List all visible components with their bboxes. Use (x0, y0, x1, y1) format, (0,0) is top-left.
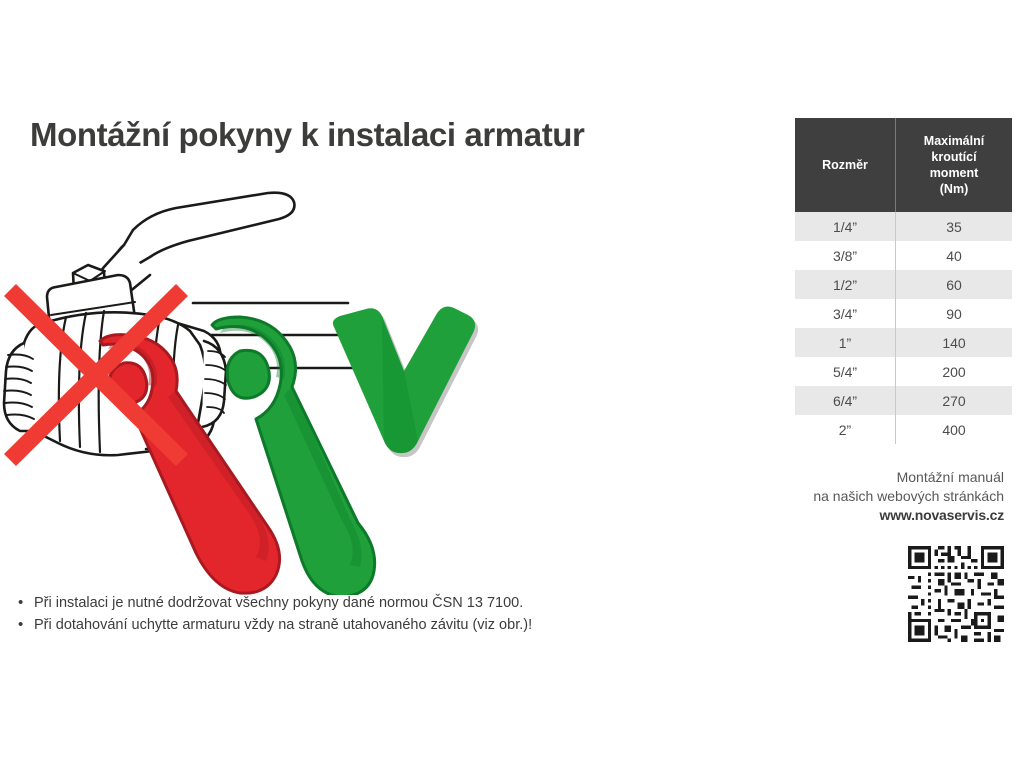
table-row: 1/4” 35 (795, 212, 1012, 241)
cell-torque: 90 (896, 299, 1013, 328)
table-row: 1/2” 60 (795, 270, 1012, 299)
column-header-torque-line1: Maximální (924, 134, 984, 148)
manual-reference-note: Montážní manuál na našich webových strán… (760, 468, 1004, 525)
cell-torque: 40 (896, 241, 1013, 270)
green-check-mark (333, 307, 478, 458)
column-header-torque-line2: kroutící (931, 150, 976, 164)
list-item-text: Při dotahování uchytte armaturu vždy na … (34, 614, 718, 636)
cell-torque: 35 (896, 212, 1013, 241)
cell-size: 6/4” (795, 386, 896, 415)
website-url[interactable]: www.novaservis.cz (760, 506, 1004, 525)
cell-torque: 140 (896, 328, 1013, 357)
cell-size: 1/4” (795, 212, 896, 241)
cell-torque: 400 (896, 415, 1013, 444)
column-header-torque-line3: moment (930, 166, 979, 180)
page-title: Montážní pokyny k instalaci armatur (30, 116, 584, 154)
instruction-bullet-list: • Při instalaci je nutné dodržovat všech… (18, 592, 718, 636)
table-body: 1/4” 35 3/8” 40 1/2” 60 3/4” 90 1” 140 5… (795, 212, 1012, 444)
column-header-torque: Maximální kroutící moment (Nm) (896, 118, 1013, 212)
cell-size: 3/4” (795, 299, 896, 328)
list-item: • Při dotahování uchytte armaturu vždy n… (18, 614, 718, 636)
cell-size: 3/8” (795, 241, 896, 270)
column-header-torque-line4: (Nm) (940, 182, 968, 196)
torque-table: Rozměr Maximální kroutící moment (Nm) 1/… (795, 118, 1012, 444)
cell-torque: 270 (896, 386, 1013, 415)
table-row: 6/4” 270 (795, 386, 1012, 415)
cell-torque: 200 (896, 357, 1013, 386)
column-header-size: Rozměr (795, 118, 896, 212)
table-row: 5/4” 200 (795, 357, 1012, 386)
table-row: 1” 140 (795, 328, 1012, 357)
bullet-marker-icon: • (18, 614, 34, 636)
table-header-row: Rozměr Maximální kroutící moment (Nm) (795, 118, 1012, 212)
list-item-text: Při instalaci je nutné dodržovat všechny… (34, 592, 718, 614)
qr-code[interactable] (908, 538, 1004, 650)
list-item: • Při instalaci je nutné dodržovat všech… (18, 592, 718, 614)
bullet-marker-icon: • (18, 592, 34, 614)
manual-note-line-1: Montážní manuál (760, 468, 1004, 487)
table-header: Rozměr Maximální kroutící moment (Nm) (795, 118, 1012, 212)
manual-note-line-2: na našich webových stránkách (760, 487, 1004, 506)
table-row: 3/4” 90 (795, 299, 1012, 328)
table-row: 3/8” 40 (795, 241, 1012, 270)
valve-installation-illustration (0, 175, 520, 595)
cell-torque: 60 (896, 270, 1013, 299)
table-row: 2” 400 (795, 415, 1012, 444)
cell-size: 2” (795, 415, 896, 444)
cell-size: 1/2” (795, 270, 896, 299)
cell-size: 5/4” (795, 357, 896, 386)
cell-size: 1” (795, 328, 896, 357)
